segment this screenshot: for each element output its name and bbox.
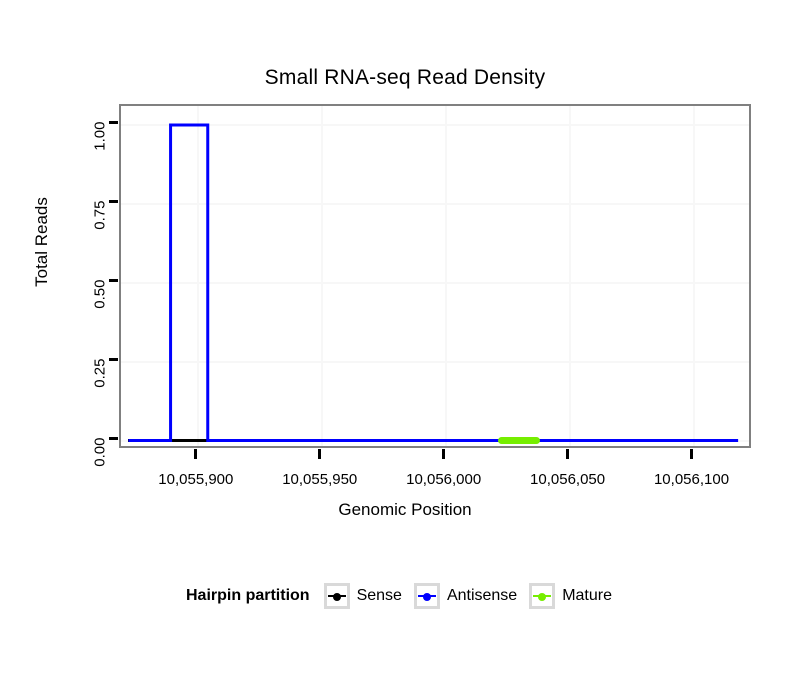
y-tick-mark-0 bbox=[109, 437, 118, 440]
legend-label-sense: Sense bbox=[357, 587, 402, 605]
chart-title: Small RNA-seq Read Density bbox=[0, 66, 810, 90]
legend-label-antisense: Antisense bbox=[447, 587, 517, 605]
chart-canvas: Small RNA-seq Read Density Total Reads 0… bbox=[0, 0, 810, 690]
plot-area bbox=[121, 106, 749, 446]
chart-legend: Hairpin partition SenseAntisenseMature bbox=[0, 583, 810, 609]
x-tick-mark-4 bbox=[690, 449, 693, 459]
antisense-step-path bbox=[128, 125, 738, 441]
legend-key-dot bbox=[423, 593, 431, 601]
legend-item-sense[interactable]: Sense bbox=[324, 583, 402, 609]
y-axis-title: Total Reads bbox=[32, 162, 52, 322]
y-tick-mark-3 bbox=[109, 200, 118, 203]
legend-label-mature: Mature bbox=[562, 587, 612, 605]
y-tick-mark-4 bbox=[109, 121, 118, 124]
x-tick-mark-1 bbox=[318, 449, 321, 459]
legend-key-dot bbox=[538, 593, 546, 601]
legend-title: Hairpin partition bbox=[186, 587, 310, 605]
legend-key-mature bbox=[529, 583, 555, 609]
y-tick-mark-1 bbox=[109, 358, 118, 361]
x-tick-mark-0 bbox=[194, 449, 197, 459]
x-tick-mark-3 bbox=[566, 449, 569, 459]
y-tick-mark-2 bbox=[109, 279, 118, 282]
x-tick-label-4: 10,056,100 bbox=[612, 471, 772, 488]
plot-panel bbox=[119, 104, 751, 448]
series-antisense bbox=[121, 106, 749, 446]
y-tick-label-4: 1.00 bbox=[92, 121, 109, 221]
legend-key-dot bbox=[333, 593, 341, 601]
series-mature bbox=[498, 437, 540, 444]
x-axis-title: Genomic Position bbox=[0, 500, 810, 520]
x-tick-mark-2 bbox=[442, 449, 445, 459]
legend-key-antisense bbox=[414, 583, 440, 609]
legend-item-mature[interactable]: Mature bbox=[529, 583, 612, 609]
legend-key-sense bbox=[324, 583, 350, 609]
legend-item-antisense[interactable]: Antisense bbox=[414, 583, 517, 609]
